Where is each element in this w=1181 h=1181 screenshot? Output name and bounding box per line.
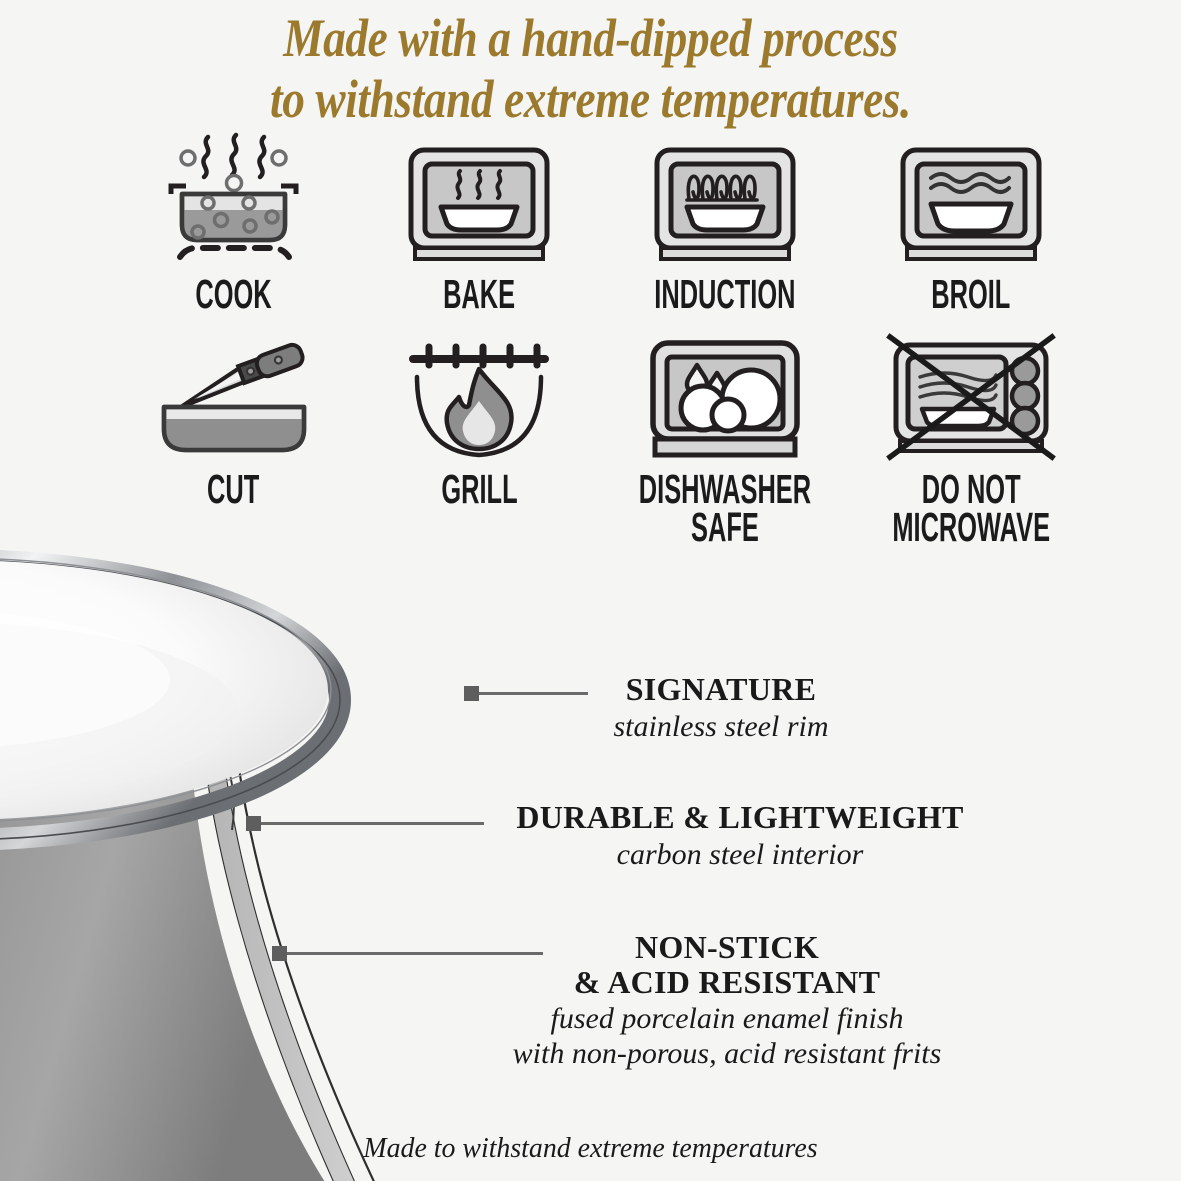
icon-row-1: COOK BA: [110, 140, 1095, 335]
icon-cell-dishwasher: DISHWASHER SAFE: [602, 335, 848, 560]
footnote-text: Made to withstand extreme temperatures: [24, 1132, 1158, 1165]
oven-broiler-icon: [891, 140, 1051, 270]
headline-line-2: to withstand extreme temperatures.: [94, 69, 1086, 130]
flame-grate-icon: [399, 335, 559, 465]
icon-label-cook: COOK: [195, 276, 271, 314]
callout-durable-sub: carbon steel interior: [420, 838, 1060, 873]
knife-pan-icon: [146, 335, 321, 465]
callout-nonstick-sub: fused porcelain enamel finish with non-p…: [437, 1002, 1017, 1072]
leader-endpoint-nonstick: [272, 946, 287, 961]
leader-endpoint-signature: [464, 686, 479, 701]
oven-dish-steam-icon: [399, 140, 559, 270]
pot-boiling-icon: [146, 140, 321, 270]
icon-label-grill: GRILL: [441, 471, 517, 509]
callout-nonstick: NON-STICK & ACID RESISTANT fused porcela…: [437, 930, 1017, 1072]
headline-line-1: Made with a hand-dipped process: [94, 8, 1086, 69]
page-title: Made with a hand-dipped process to withs…: [94, 8, 1086, 130]
callout-nonstick-title: NON-STICK & ACID RESISTANT: [437, 930, 1017, 999]
leader-endpoint-durable: [246, 816, 261, 831]
callout-durable: DURABLE & LIGHTWEIGHT carbon steel inter…: [420, 800, 1060, 872]
icon-label-bake: BAKE: [443, 276, 515, 314]
icon-cell-induction: INDUCTION: [602, 140, 848, 335]
icon-cell-cook: COOK: [110, 140, 356, 335]
oven-coil-icon: [645, 140, 805, 270]
icon-cell-grill: GRILL: [356, 335, 602, 560]
icon-cell-broil: BROIL: [848, 140, 1094, 335]
icon-cell-bake: BAKE: [356, 140, 602, 335]
callout-signature-title: SIGNATURE: [556, 672, 886, 707]
icon-label-dishwasher: DISHWASHER SAFE: [639, 471, 811, 546]
dishwasher-icon: [641, 335, 809, 465]
infographic-root: Made with a hand-dipped process to withs…: [0, 0, 1181, 1181]
callout-signature: SIGNATURE stainless steel rim: [556, 672, 886, 744]
icon-cell-microwave: DO NOT MICROWAVE: [848, 335, 1094, 560]
microwave-crossed-icon: [882, 335, 1060, 465]
icon-row-2: CUT GRI: [110, 335, 1095, 560]
callout-signature-sub: stainless steel rim: [556, 710, 886, 745]
icon-cell-cut: CUT: [110, 335, 356, 560]
icon-label-cut: CUT: [207, 471, 259, 509]
callout-durable-title: DURABLE & LIGHTWEIGHT: [420, 800, 1060, 835]
icon-label-microwave: DO NOT MICROWAVE: [892, 471, 1050, 546]
icon-label-induction: INDUCTION: [654, 276, 795, 314]
feature-icon-grid: COOK BA: [110, 140, 1095, 560]
icon-label-broil: BROIL: [931, 276, 1010, 314]
